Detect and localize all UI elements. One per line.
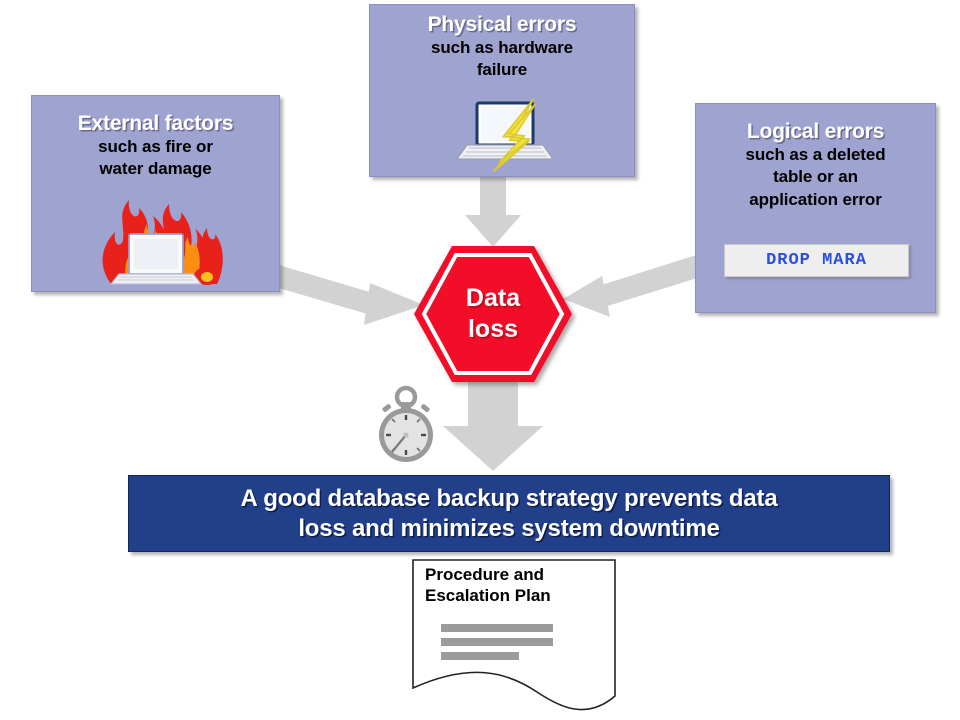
arrow-logical-to-dataloss	[563, 252, 710, 317]
box-external-factors[interactable]: External factors such as fire or water d…	[31, 95, 280, 292]
arrow-dataloss-to-banner	[443, 378, 543, 471]
box-logical-subtitle-line3: application error	[696, 190, 935, 210]
box-logical-title: Logical errors	[696, 121, 935, 143]
box-external-title: External factors	[32, 113, 279, 135]
box-external-subtitle-line2: water damage	[32, 159, 279, 179]
diagram-canvas: External factors such as fire or water d…	[0, 0, 960, 720]
box-physical-errors[interactable]: Physical errors such as hardware failure	[369, 4, 635, 177]
document-title: Procedure and Escalation Plan	[425, 564, 605, 607]
data-loss-hexagon[interactable]	[412, 244, 574, 384]
procedure-document[interactable]: Procedure and Escalation Plan	[411, 558, 619, 718]
sql-code-chip[interactable]: DROP MARA	[724, 244, 909, 277]
document-title-line1: Procedure and	[425, 564, 605, 585]
sql-code-text: DROP MARA	[766, 251, 867, 270]
box-logical-subtitle-line2: table or an	[696, 167, 935, 187]
burning-laptop-icon	[89, 184, 229, 288]
stopwatch-icon	[370, 385, 442, 465]
banner-text: A good database backup strategy prevents…	[241, 484, 778, 543]
laptop-lightning-icon	[453, 97, 557, 175]
arrow-physical-to-dataloss	[465, 177, 521, 247]
box-external-subtitle-line1: such as fire or	[32, 137, 279, 157]
banner-line1: A good database backup strategy prevents…	[241, 485, 778, 512]
document-title-line2: Escalation Plan	[425, 585, 605, 606]
box-logical-subtitle-line1: such as a deleted	[696, 145, 935, 165]
backup-strategy-banner[interactable]: A good database backup strategy prevents…	[128, 475, 890, 552]
banner-line2: loss and minimizes system downtime	[298, 515, 719, 542]
box-physical-title: Physical errors	[370, 14, 634, 36]
box-logical-errors[interactable]: Logical errors such as a deleted table o…	[695, 103, 936, 313]
box-physical-subtitle-line2: failure	[370, 60, 634, 80]
box-physical-subtitle-line1: such as hardware	[370, 38, 634, 58]
